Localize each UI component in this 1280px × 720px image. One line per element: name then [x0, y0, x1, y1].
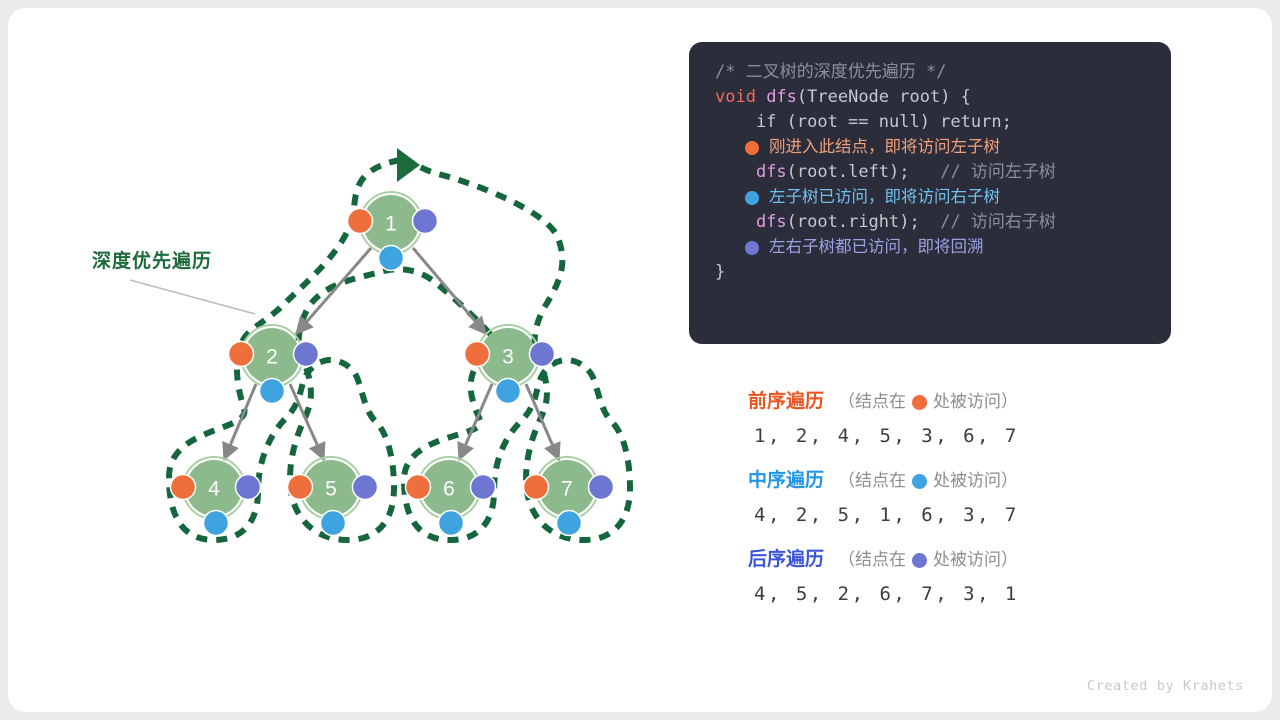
code-token: (TreeNode root) { [797, 87, 971, 107]
traversal-name: 中序遍历 [748, 465, 824, 497]
inorder-dot [260, 379, 285, 404]
node-value: 7 [561, 478, 573, 501]
preorder-dot [406, 475, 431, 500]
inorder-dot [496, 379, 521, 404]
node-value: 4 [208, 478, 220, 501]
traversal-note-suffix: 处被访问） [933, 544, 1018, 576]
code-annotation-line: 左子树已访问，即将访问右子树 [715, 185, 1149, 210]
code-line: /* 二叉树的深度优先遍历 */ [715, 60, 1149, 85]
code-token: /* 二叉树的深度优先遍历 */ [715, 62, 946, 82]
tree-svg: 1 2 3 [8, 8, 668, 712]
postorder-dot [236, 475, 261, 500]
traversal-marker-dot-icon [912, 553, 927, 568]
preorder-dot [229, 342, 254, 367]
postorder-dot [294, 342, 319, 367]
traversal-result-group: 前序遍历（结点在处被访问）1, 2, 4, 5, 3, 6, 7 [748, 386, 1188, 454]
traversal-result-header: 后序遍历（结点在处被访问） [748, 544, 1188, 576]
traversal-note-prefix: （结点在 [838, 386, 906, 418]
postorder-dot [353, 475, 378, 500]
traversal-name: 前序遍历 [748, 386, 824, 418]
annotation-dot-icon [745, 241, 759, 255]
code-token: dfs [756, 162, 787, 182]
node-value: 2 [266, 346, 278, 369]
code-token: (root.right); [787, 212, 920, 232]
node-value: 3 [502, 346, 514, 369]
postorder-dot [413, 209, 438, 234]
code-token: dfs [766, 87, 797, 107]
traversal-note-prefix: （结点在 [838, 465, 906, 497]
code-line: dfs(root.left); // 访问左子树 [715, 160, 1149, 185]
traversal-marker-dot-icon [912, 395, 927, 410]
code-token: // 访问右子树 [920, 212, 1056, 232]
traversal-result-group: 后序遍历（结点在处被访问）4, 5, 2, 6, 7, 3, 1 [748, 544, 1188, 612]
traversal-sequence: 4, 2, 5, 1, 6, 3, 7 [748, 497, 1188, 533]
code-token [715, 212, 756, 232]
dfs-caption-label: 深度优先遍历 [92, 246, 212, 273]
traversal-results: 前序遍历（结点在处被访问）1, 2, 4, 5, 3, 6, 7中序遍历（结点在… [748, 386, 1188, 623]
traversal-result-header: 中序遍历（结点在处被访问） [748, 465, 1188, 497]
node-value: 5 [325, 478, 337, 501]
traversal-note-suffix: 处被访问） [933, 465, 1018, 497]
edge-3-6 [459, 384, 492, 460]
annotation-text: 左子树已访问，即将访问右子树 [769, 185, 1000, 210]
tree-node-6[interactable]: 6 [406, 457, 496, 536]
code-token: } [715, 262, 725, 282]
inorder-dot [557, 511, 582, 536]
node-value: 6 [443, 478, 455, 501]
code-token: if (root == null) return; [715, 112, 1012, 132]
tree-node-3[interactable]: 3 [465, 325, 555, 404]
code-token: void [715, 87, 766, 107]
code-annotation-line: 左右子树都已访问，即将回溯 [715, 235, 1149, 260]
node-value: 1 [385, 213, 397, 236]
code-line: void dfs(TreeNode root) { [715, 85, 1149, 110]
caption-leader-line [130, 280, 255, 314]
code-token [715, 162, 756, 182]
annotation-dot-icon [745, 191, 759, 205]
inorder-dot [379, 246, 404, 271]
traversal-sequence: 4, 5, 2, 6, 7, 3, 1 [748, 576, 1188, 612]
preorder-dot [348, 209, 373, 234]
code-token: (root.left); [787, 162, 910, 182]
preorder-dot [288, 475, 313, 500]
tree-node-4[interactable]: 4 [171, 457, 261, 536]
code-annotation-line: 刚进入此结点，即将访问左子树 [715, 135, 1149, 160]
traversal-note-prefix: （结点在 [838, 544, 906, 576]
code-token: // 访问左子树 [910, 162, 1056, 182]
traversal-sequence: 1, 2, 4, 5, 3, 6, 7 [748, 418, 1188, 454]
preorder-dot [524, 475, 549, 500]
edge-1-2 [296, 248, 371, 334]
annotation-dot-icon [745, 141, 759, 155]
code-line: } [715, 260, 1149, 285]
code-token: dfs [756, 212, 787, 232]
postorder-dot [471, 475, 496, 500]
code-line: dfs(root.right); // 访问右子树 [715, 210, 1149, 235]
postorder-dot [530, 342, 555, 367]
annotation-text: 刚进入此结点，即将访问左子树 [769, 135, 1000, 160]
traversal-name: 后序遍历 [748, 544, 824, 576]
binary-tree-diagram: 1 2 3 [8, 8, 668, 712]
preorder-dot [465, 342, 490, 367]
inorder-dot [204, 511, 229, 536]
postorder-dot [589, 475, 614, 500]
code-snippet-panel: /* 二叉树的深度优先遍历 */void dfs(TreeNode root) … [689, 42, 1171, 344]
traversal-note-suffix: 处被访问） [933, 386, 1018, 418]
traversal-result-group: 中序遍历（结点在处被访问）4, 2, 5, 1, 6, 3, 7 [748, 465, 1188, 533]
inorder-dot [321, 511, 346, 536]
play-triangle-icon [397, 148, 420, 182]
edge-1-3 [413, 248, 486, 334]
preorder-dot [171, 475, 196, 500]
traversal-result-header: 前序遍历（结点在处被访问） [748, 386, 1188, 418]
tree-node-7[interactable]: 7 [524, 457, 614, 536]
illustration-canvas: 1 2 3 [8, 8, 1272, 712]
code-lines: /* 二叉树的深度优先遍历 */void dfs(TreeNode root) … [715, 60, 1149, 285]
traversal-marker-dot-icon [912, 474, 927, 489]
inorder-dot [439, 511, 464, 536]
credit-text: Created by Krahets [1087, 678, 1244, 694]
annotation-text: 左右子树都已访问，即将回溯 [769, 235, 984, 260]
tree-node-5[interactable]: 5 [288, 457, 378, 536]
code-line: if (root == null) return; [715, 110, 1149, 135]
